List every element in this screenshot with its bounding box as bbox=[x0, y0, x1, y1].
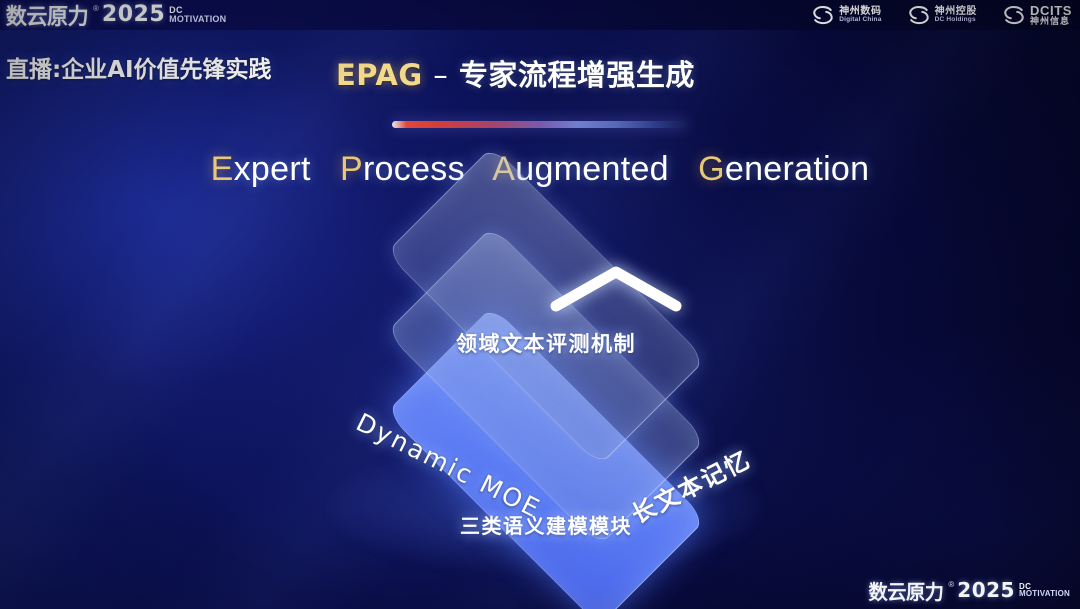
expansion-subtitle: Expert Process Augmented Generation bbox=[0, 150, 1080, 189]
partner-logo-text: 神州数码 Digital China bbox=[839, 7, 881, 24]
partner-logo-text: 神州控股 DC Holdings bbox=[935, 7, 977, 24]
partner-logo-dc-holdings: 神州控股 DC Holdings bbox=[908, 5, 977, 25]
subtitle-word-process: Process bbox=[340, 150, 465, 188]
slide-canvas: 数云原力® 2025 DC MOTIVATION 神州数码 Digital Ch… bbox=[0, 0, 1080, 609]
subtitle-rest: xpert bbox=[234, 150, 311, 188]
subtitle-initial: P bbox=[340, 150, 363, 188]
layered-stack-diagram: 领域文本评测机制 Dynamic MOE 长文本记忆 三类语义建模模块 bbox=[296, 228, 796, 568]
top-bar: 数云原力® 2025 DC MOTIVATION 神州数码 Digital Ch… bbox=[0, 0, 1080, 30]
subtitle-initial: G bbox=[698, 150, 725, 188]
subtitle-rest: ugmented bbox=[515, 150, 669, 188]
subtitle-space bbox=[320, 150, 330, 188]
title-acronym: EPAG bbox=[336, 58, 423, 92]
live-session-label: 直播:企业AI价值先锋实践 bbox=[6, 50, 272, 84]
brand-name-cn: 数云原力 bbox=[6, 0, 89, 31]
page-title: EPAG – 专家流程增强生成 bbox=[336, 52, 695, 94]
brand-dc-motivation: DC MOTIVATION bbox=[169, 6, 226, 23]
partner-logo-digital-china: 神州数码 Digital China bbox=[812, 5, 881, 25]
partner-name-en: Digital China bbox=[839, 17, 881, 24]
swirl-logo-icon bbox=[908, 5, 930, 25]
watermark-registered-mark: ® bbox=[948, 580, 954, 589]
partner-logo-text: DCITS 神州信息 bbox=[1030, 4, 1072, 26]
subtitle-word-expert: Expert bbox=[211, 150, 311, 188]
title-chinese: 专家流程增强生成 bbox=[459, 58, 695, 92]
brand-year: 2025 bbox=[102, 2, 165, 27]
subtitle-rest: eneration bbox=[725, 150, 869, 188]
watermark-year: 2025 bbox=[957, 578, 1015, 602]
watermark-dc-motivation: DC MOTIVATION bbox=[1019, 583, 1070, 598]
swirl-logo-icon bbox=[812, 5, 834, 25]
watermark-dc-line2: MOTIVATION bbox=[1019, 590, 1070, 597]
subtitle-initial: E bbox=[211, 150, 234, 188]
partner-name-en: DC Holdings bbox=[935, 17, 977, 24]
watermark-name-cn: 数云原力 bbox=[869, 576, 944, 605]
title-dash: – bbox=[433, 58, 448, 92]
gradient-divider bbox=[392, 121, 687, 128]
brand-logo: 数云原力® 2025 DC MOTIVATION bbox=[4, 1, 226, 28]
subtitle-rest: rocess bbox=[363, 150, 465, 188]
brand-registered-mark: ® bbox=[93, 4, 99, 13]
partner-name-cn: 神州信息 bbox=[1030, 17, 1072, 26]
subtitle-word-generation: Generation bbox=[698, 150, 869, 188]
brand-dc-line2: MOTIVATION bbox=[169, 15, 226, 23]
swirl-logo-icon bbox=[1003, 5, 1025, 25]
watermark-logo: 数云原力® 2025 DC MOTIVATION bbox=[867, 577, 1070, 603]
partner-logo-group: 神州数码 Digital China 神州控股 DC Holdings bbox=[812, 3, 1072, 27]
subtitle-space bbox=[679, 150, 689, 188]
partner-logo-dcits: DCITS 神州信息 bbox=[1003, 4, 1072, 26]
